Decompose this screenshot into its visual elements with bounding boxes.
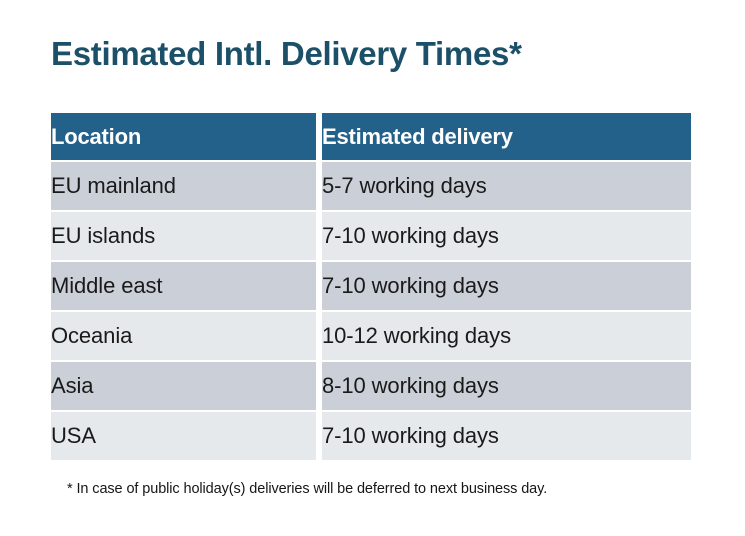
delivery-times-table: Location Estimated delivery EU mainland … xyxy=(51,113,691,460)
cell-delivery: 8-10 working days xyxy=(322,362,691,410)
cell-location: Oceania xyxy=(51,312,316,360)
footnote: * In case of public holiday(s) deliverie… xyxy=(67,481,547,497)
cell-location: Asia xyxy=(51,362,316,410)
table-header: Location Estimated delivery xyxy=(51,113,691,160)
table-row: Asia 8-10 working days xyxy=(51,362,691,410)
cell-location: EU islands xyxy=(51,212,316,260)
cell-location: USA xyxy=(51,412,316,460)
table-row: Middle east 7-10 working days xyxy=(51,262,691,310)
column-header-location: Location xyxy=(51,113,316,160)
page-title: Estimated Intl. Delivery Times* xyxy=(51,36,522,72)
cell-delivery: 7-10 working days xyxy=(322,212,691,260)
table-row: Oceania 10-12 working days xyxy=(51,312,691,360)
table-header-row: Location Estimated delivery xyxy=(51,113,691,160)
cell-delivery: 5-7 working days xyxy=(322,162,691,210)
cell-delivery: 7-10 working days xyxy=(322,412,691,460)
cell-delivery: 7-10 working days xyxy=(322,262,691,310)
cell-location: EU mainland xyxy=(51,162,316,210)
column-header-estimated-delivery: Estimated delivery xyxy=(322,113,691,160)
cell-delivery: 10-12 working days xyxy=(322,312,691,360)
table-body: EU mainland 5-7 working days EU islands … xyxy=(51,160,691,460)
table-row: EU mainland 5-7 working days xyxy=(51,162,691,210)
delivery-times-card: Estimated Intl. Delivery Times* Location… xyxy=(0,0,745,536)
table-row: EU islands 7-10 working days xyxy=(51,212,691,260)
table-row: USA 7-10 working days xyxy=(51,412,691,460)
cell-location: Middle east xyxy=(51,262,316,310)
